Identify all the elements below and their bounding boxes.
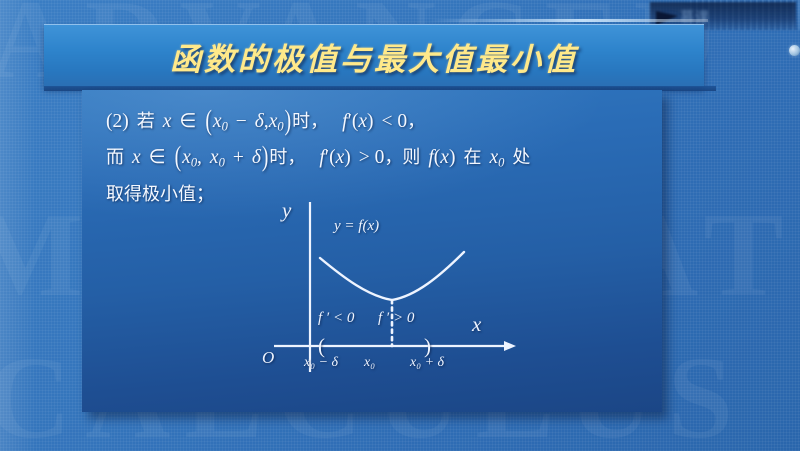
line1-lead: 若 — [137, 111, 155, 132]
line2-fx-var: x — [336, 147, 345, 168]
math-line-2: 而x∈(x0,x0+δ)时，f′(x)> 0，则f(x)在x0处 — [106, 142, 646, 178]
line2-then: ，则 — [384, 147, 420, 168]
line2-a1: x — [182, 147, 191, 168]
math-line-1: (2)若x∈(x0−δ,x0)时，f′(x)< 0， — [106, 106, 646, 142]
left-region-label: f ′ < 0 — [318, 310, 354, 327]
line2-close-paren: ) — [261, 136, 270, 181]
line2-comma: , — [197, 147, 202, 168]
logo-triangle-icon — [656, 11, 678, 25]
line2-open-paren: ( — [174, 136, 183, 181]
line2-a2: x — [210, 147, 219, 168]
tick-label-mid: x₀ — [364, 355, 375, 371]
title-banner: 函数的极值与最大值最小值 — [44, 24, 704, 87]
line1-tail: ， — [407, 111, 425, 132]
line2-point: x — [489, 147, 498, 168]
curve-label: y = f(x) — [334, 218, 379, 235]
slide-root: ADVANCED MATHEMATICS CALCULUS 慕课 函数的极值与最… — [0, 0, 800, 451]
line1-a1: x — [213, 111, 222, 132]
line1-fx-var: x — [358, 111, 367, 132]
line1-var: x — [163, 111, 172, 132]
tick-label-right: x₀ + δ — [410, 355, 444, 371]
line2-fn-var: x — [440, 147, 449, 168]
line2-at-tail: 处 — [512, 147, 530, 168]
line2-var: x — [132, 147, 141, 168]
line2-plus: + — [233, 147, 244, 168]
math-text-block: (2)若x∈(x0−δ,x0)时，f′(x)< 0， 而x∈(x0,x0+δ)时… — [106, 106, 646, 210]
line2-relation: > 0 — [359, 147, 385, 168]
line1-a1-sub: 0 — [222, 119, 228, 133]
line2-point-sub: 0 — [498, 156, 504, 170]
y-axis-label: y — [282, 198, 291, 223]
x-axis-label: x — [472, 312, 481, 337]
line2-lead: 而 — [106, 147, 124, 168]
x-axis-arrow-icon — [504, 341, 516, 351]
tick-label-left: x₀ − δ — [304, 355, 338, 371]
line1-close-paren: ) — [284, 99, 293, 144]
line1-delta: δ — [255, 111, 264, 132]
line2-in: ∈ — [149, 147, 166, 168]
line2-fx-close: ) — [344, 147, 351, 168]
line1-relation: < 0 — [381, 111, 407, 132]
line2-fn-close: ) — [449, 147, 456, 168]
line2-delta: δ — [252, 147, 261, 168]
line1-fx-close: ) — [367, 111, 374, 132]
right-region-label: f ′ > 0 — [378, 310, 414, 327]
line1-open-paren: ( — [204, 99, 213, 144]
line1-minus: − — [236, 111, 247, 132]
line2-a2-sub: 0 — [219, 156, 225, 170]
line1-in: ∈ — [179, 111, 196, 132]
item-number: (2) — [106, 111, 129, 132]
function-curve — [320, 252, 464, 300]
left-light-strip — [0, 0, 36, 451]
content-panel: (2)若x∈(x0−δ,x0)时，f′(x)< 0， 而x∈(x0,x0+δ)时… — [82, 90, 662, 412]
banner-highlight-line — [430, 19, 708, 22]
origin-label: O — [262, 348, 274, 368]
page-title: 函数的极值与最大值最小值 — [44, 25, 704, 87]
line2-at: 在 — [463, 147, 481, 168]
line1-when: 时， — [292, 111, 328, 132]
function-graph: y x O y = f(x) f ′ < 0 f ′ > 0 ( ) x₀ − … — [272, 200, 532, 400]
edge-indicator-dot — [789, 45, 800, 56]
line2-when: 时， — [269, 147, 305, 168]
